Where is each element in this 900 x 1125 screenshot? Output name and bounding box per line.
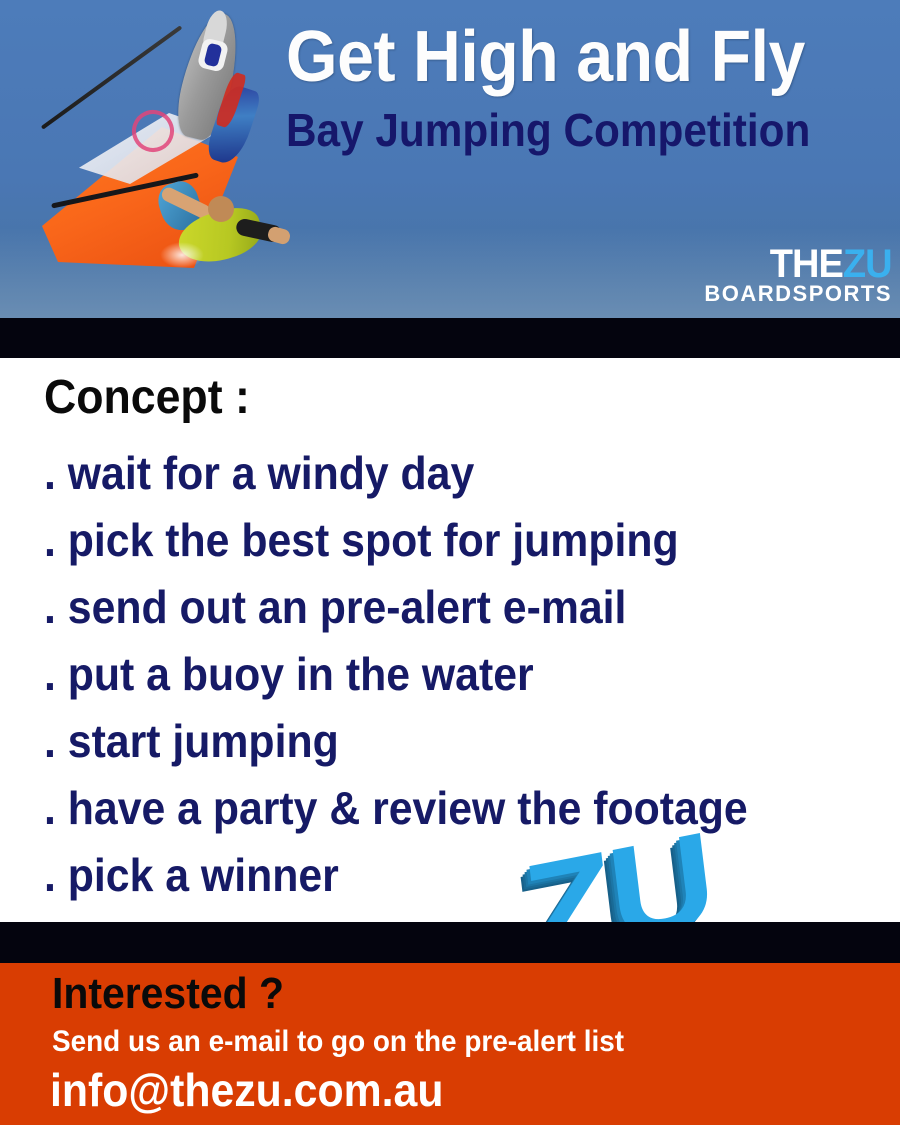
footer-instruction: Send us an e-mail to go on the pre-alert…: [52, 1025, 624, 1059]
content-section: Concept : . wait for a windy day . pick …: [0, 358, 900, 922]
rider-foot: [266, 225, 291, 245]
windsurfer-photo: [10, 6, 310, 312]
list-item: . start jumping: [44, 708, 748, 775]
brand-wordmark: THEZU: [714, 246, 892, 282]
list-item: . send out an pre-alert e-mail: [44, 574, 748, 641]
list-item: . wait for a windy day: [44, 440, 748, 507]
brand-logo[interactable]: THEZU BOARDSPORTS: [704, 246, 892, 305]
header-banner: Get High and Fly Bay Jumping Competition…: [0, 0, 900, 318]
footer-heading: Interested ?: [52, 969, 284, 1019]
page-subtitle: Bay Jumping Competition: [286, 107, 838, 153]
divider-bottom: [0, 922, 900, 963]
poster: Get High and Fly Bay Jumping Competition…: [0, 0, 900, 1125]
page-title: Get High and Fly: [286, 22, 838, 93]
brand-the: THE: [770, 242, 843, 286]
concept-heading: Concept :: [44, 370, 250, 425]
rider-head: [208, 196, 234, 222]
list-item: . pick a winner: [44, 842, 748, 909]
list-item: . pick the best spot for jumping: [44, 507, 748, 574]
list-item: . put a buoy in the water: [44, 641, 748, 708]
list-item: . have a party & review the footage: [44, 775, 748, 842]
footer-section: Interested ? Send us an e-mail to go on …: [0, 963, 900, 1125]
concept-list: . wait for a windy day . pick the best s…: [44, 440, 801, 909]
contact-email-link[interactable]: info@thezu.com.au: [50, 1063, 443, 1117]
title-block: Get High and Fly Bay Jumping Competition: [286, 22, 886, 153]
divider-top: [0, 318, 900, 358]
brand-zu: ZU: [843, 242, 892, 286]
water-spray: [160, 242, 204, 268]
